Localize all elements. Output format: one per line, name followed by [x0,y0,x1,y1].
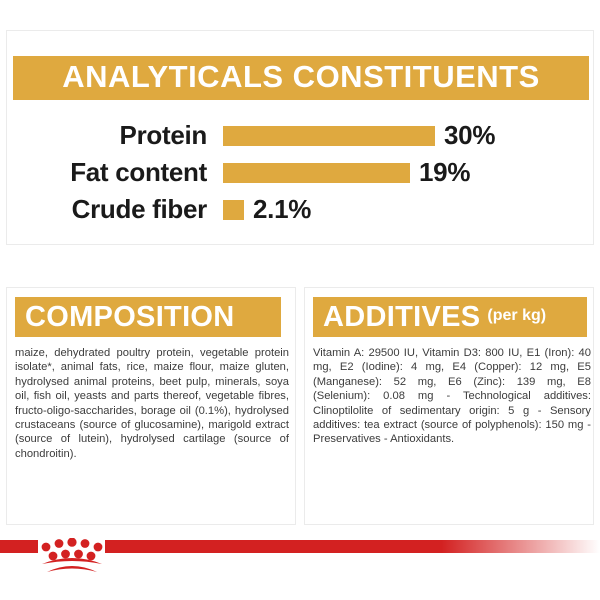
composition-panel: COMPOSITION maize, dehydrated poultry pr… [6,287,296,525]
constituent-value-fat-content: 19% [419,157,470,188]
additives-title: ADDITIVES [323,301,480,334]
constituent-bar-wrap-crude-fiber: 2.1% [223,194,311,225]
royal-canin-crown-icon [38,538,106,580]
constituent-label-protein: Protein [7,120,223,151]
analyticals-section-header: ANALYTICALS CONSTITUENTS [13,56,589,100]
constituent-value-protein: 30% [444,120,495,151]
constituent-label-crude-fiber: Crude fiber [7,194,223,225]
constituent-row-protein: Protein 30% [7,119,593,152]
footer [0,538,600,600]
composition-title: COMPOSITION [25,301,235,334]
additives-panel: ADDITIVES (per kg) Vitamin A: 29500 IU, … [304,287,594,525]
footer-red-bar-left [0,540,38,553]
composition-body-text: maize, dehydrated poultry protein, veget… [15,346,289,461]
constituent-bar-wrap-fat-content: 19% [223,157,470,188]
constituent-bar-wrap-protein: 30% [223,120,495,151]
constituent-bar-crude-fiber [223,200,244,220]
additives-section-header: ADDITIVES (per kg) [313,297,587,337]
additives-title-suffix: (per kg) [487,307,546,327]
constituent-bar-protein [223,126,435,146]
constituent-value-crude-fiber: 2.1% [253,194,311,225]
constituent-bar-fat-content [223,163,410,183]
constituent-rows: Protein 30% Fat content 19% Crude fiber … [7,119,593,230]
constituent-label-fat-content: Fat content [7,157,223,188]
additives-body-text: Vitamin A: 29500 IU, Vitamin D3: 800 IU,… [313,346,591,447]
footer-red-bar-right [105,540,600,553]
composition-section-header: COMPOSITION [15,297,281,337]
constituent-row-crude-fiber: Crude fiber 2.1% [7,193,593,226]
analyticals-title: ANALYTICALS CONSTITUENTS [62,59,540,95]
analyticals-constituents-panel: ANALYTICALS CONSTITUENTS Protein 30% Fat… [6,30,594,245]
constituent-row-fat-content: Fat content 19% [7,156,593,189]
